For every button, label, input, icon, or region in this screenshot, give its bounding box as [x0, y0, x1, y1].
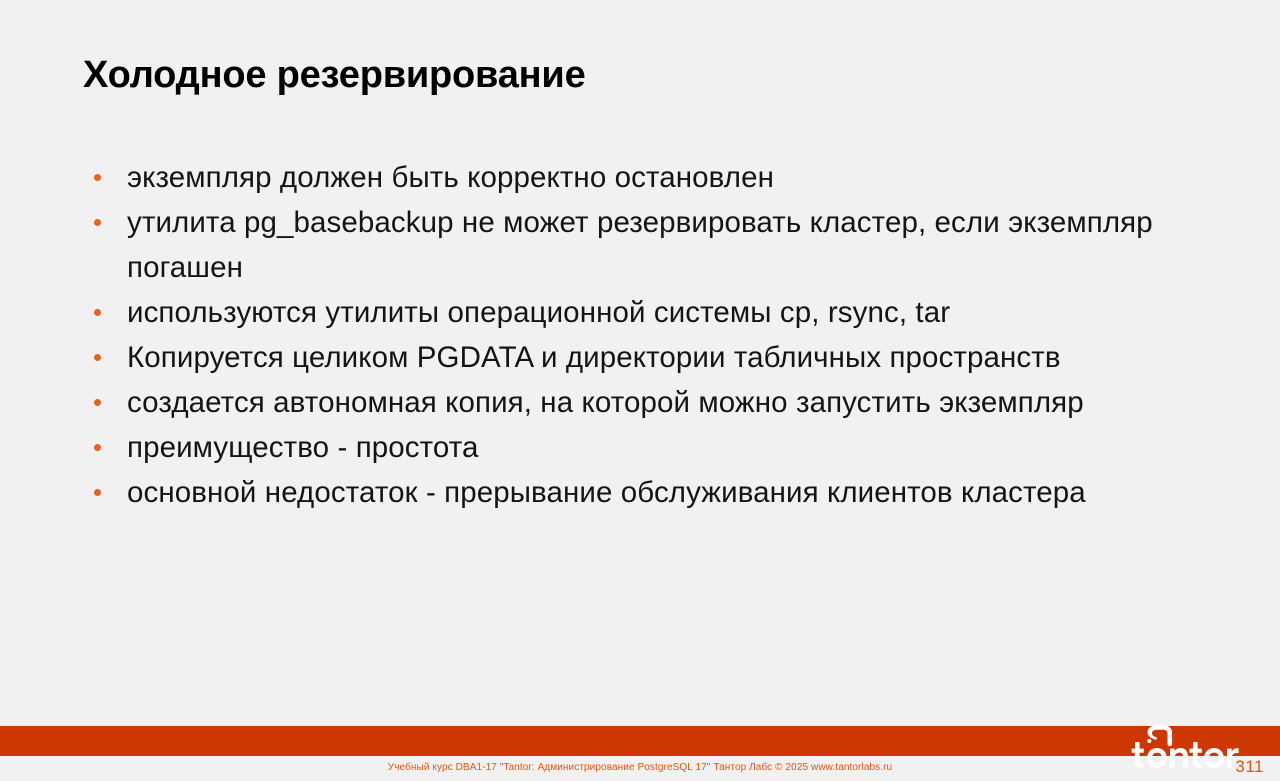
footer-bar: [0, 726, 1280, 756]
list-item-label: экземпляр должен быть корректно остановл…: [127, 161, 774, 194]
bullet-dot-icon: [94, 354, 101, 361]
list-item-label: утилита pg_basebackup не может резервиро…: [127, 206, 1153, 284]
list-item-label: создается автономная копия, на которой м…: [127, 386, 1084, 419]
page-number: 311: [1235, 757, 1264, 777]
list-item-label: Копируется целиком PGDATA и директории т…: [127, 341, 1061, 374]
list-item-label: преимущество - простота: [127, 431, 479, 464]
list-item: утилита pg_basebackup не может резервиро…: [83, 200, 1203, 290]
slide: Холодное резервирование экземпляр должен…: [0, 0, 1280, 781]
list-item: преимущество - простота: [83, 425, 1203, 470]
list-item-label: основной недостаток - прерывание обслужи…: [127, 476, 1086, 509]
list-item: используются утилиты операционной систем…: [83, 290, 1203, 335]
footer-credit: Учебный курс DBA1-17 "Tantor: Администри…: [0, 762, 1280, 773]
list-item: экземпляр должен быть корректно остановл…: [83, 155, 1203, 200]
bullet-dot-icon: [94, 489, 101, 496]
list-item-label: используются утилиты операционной систем…: [127, 296, 950, 329]
list-item: создается автономная копия, на которой м…: [83, 380, 1203, 425]
page-title: Холодное резервирование: [83, 54, 586, 97]
bullet-dot-icon: [94, 219, 101, 226]
bullet-dot-icon: [94, 399, 101, 406]
list-item: Копируется целиком PGDATA и директории т…: [83, 335, 1203, 380]
bullet-dot-icon: [94, 309, 101, 316]
bullet-dot-icon: [94, 444, 101, 451]
bullet-list: экземпляр должен быть корректно остановл…: [83, 155, 1203, 515]
bullet-dot-icon: [94, 174, 101, 181]
list-item: основной недостаток - прерывание обслужи…: [83, 470, 1203, 515]
